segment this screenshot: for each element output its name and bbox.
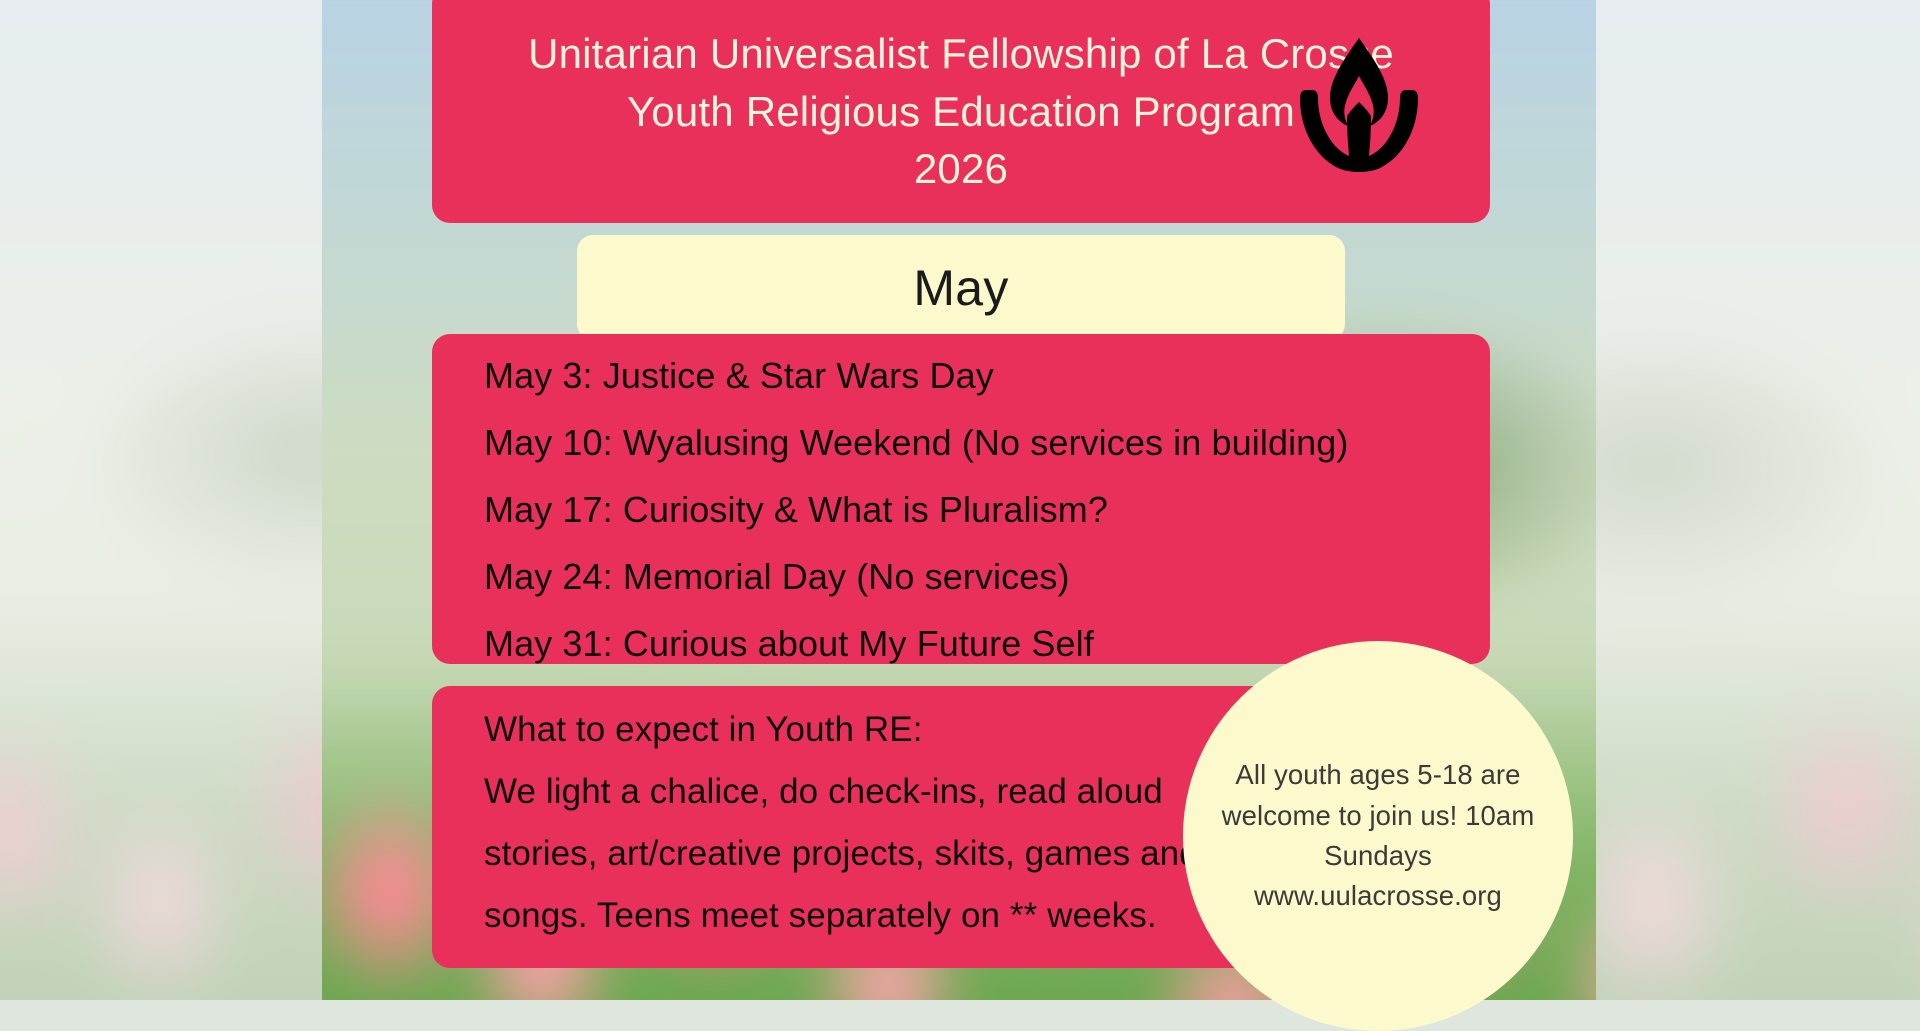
info-circle-line-4: www.uulacrosse.org <box>1222 876 1535 916</box>
info-circle-text: All youth ages 5-18 are welcome to join … <box>1222 755 1535 917</box>
header-card: Unitarian Universalist Fellowship of La … <box>432 0 1490 223</box>
schedule-item: May 31: Curious about My Future Self <box>484 626 1438 662</box>
header-title-line-2: Youth Religious Education Program <box>627 84 1295 140</box>
schedule-item: May 24: Memorial Day (No services) <box>484 559 1438 595</box>
schedule-item: May 10: Wyalusing Weekend (No services i… <box>484 425 1438 461</box>
month-banner: May <box>577 235 1345 340</box>
month-label: May <box>913 263 1008 313</box>
info-circle-badge: All youth ages 5-18 are welcome to join … <box>1183 641 1573 1031</box>
poster-content: Unitarian Universalist Fellowship of La … <box>0 0 1920 1000</box>
info-circle-line-1: All youth ages 5-18 are <box>1222 755 1535 795</box>
schedule-item: May 3: Justice & Star Wars Day <box>484 358 1438 394</box>
header-title-line-1: Unitarian Universalist Fellowship of La … <box>528 26 1394 82</box>
header-title: Unitarian Universalist Fellowship of La … <box>528 26 1394 198</box>
uu-chalice-icon <box>1290 32 1428 172</box>
header-title-line-3: 2026 <box>914 141 1008 197</box>
info-circle-line-3: Sundays <box>1222 836 1535 876</box>
info-circle-line-2: welcome to join us! 10am <box>1222 796 1535 836</box>
schedule-card: May 3: Justice & Star Wars Day May 10: W… <box>432 334 1490 664</box>
schedule-item: May 17: Curiosity & What is Pluralism? <box>484 492 1438 528</box>
